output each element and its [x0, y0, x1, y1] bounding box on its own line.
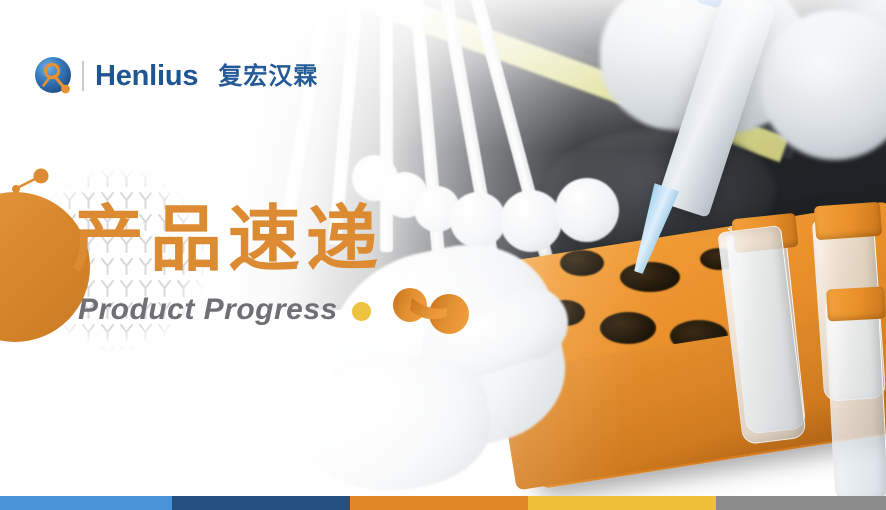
- logo-name-en: Henlius: [95, 62, 198, 91]
- brand-logo: Henlius 复宏汉霖: [34, 54, 318, 98]
- decor-dumbbell-molecule: [392, 288, 470, 334]
- page-title-cn: 产品速递: [72, 203, 384, 275]
- bar-dark-blue: [172, 496, 350, 510]
- page-subtitle-en: Product Progress: [78, 292, 338, 328]
- bar-orange: [350, 496, 528, 510]
- henlius-logo-mark-icon: [34, 56, 74, 96]
- slide-root: Henlius 复宏汉霖 产品速递 Product Progress: [0, 0, 886, 510]
- footer-color-bars: [0, 496, 886, 510]
- decor-mini-molecule: [10, 168, 52, 196]
- bar-light-blue: [0, 496, 172, 510]
- decor-yellow-dot: [352, 302, 371, 321]
- logo-name-cn: 复宏汉霖: [218, 64, 318, 88]
- bar-gray: [716, 496, 886, 510]
- logo-divider: [82, 61, 84, 91]
- bar-yellow: [528, 496, 716, 510]
